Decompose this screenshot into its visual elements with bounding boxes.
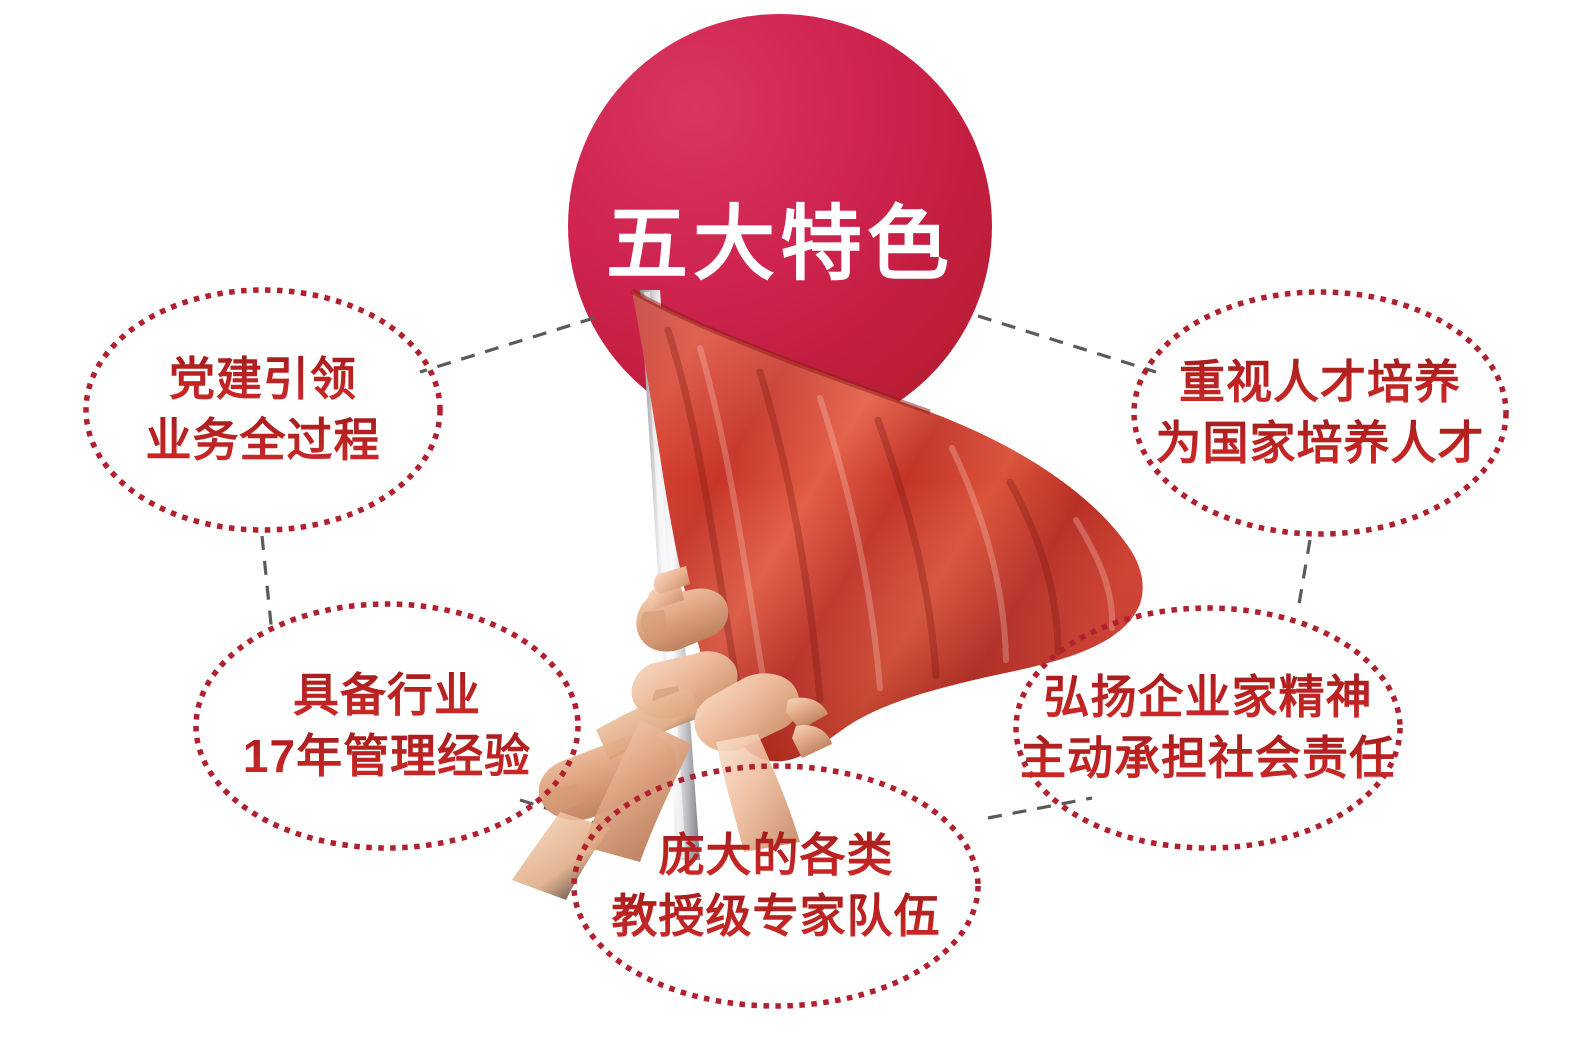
infographic-canvas: 五大特色 bbox=[0, 0, 1594, 1045]
bubble-line-1: 庞大的各类 bbox=[659, 825, 894, 886]
connector-hub-to-top-left bbox=[420, 318, 594, 372]
feature-bubble-bottom-left[interactable]: 具备行业 17年管理经验 bbox=[192, 600, 582, 852]
center-hub-circle[interactable]: 五大特色 bbox=[568, 14, 992, 438]
bubble-line-1: 党建引领 bbox=[169, 349, 357, 410]
bubble-line-1: 弘扬企业家精神 bbox=[1044, 667, 1373, 728]
bubble-line-2: 17年管理经验 bbox=[243, 726, 531, 787]
hub-title: 五大特色 bbox=[606, 204, 954, 286]
feature-bubble-top-right[interactable]: 重视人才培养 为国家培养人才 bbox=[1130, 288, 1510, 538]
connector-top-right-to-bottom-right bbox=[1298, 540, 1310, 610]
bubble-line-1: 具备行业 bbox=[293, 665, 481, 726]
bubble-line-2: 主动承担社会责任 bbox=[1020, 728, 1396, 789]
feature-bubble-top-left[interactable]: 党建引领 业务全过程 bbox=[82, 286, 444, 534]
feature-bubble-bottom-center[interactable]: 庞大的各类 教授级专家队伍 bbox=[570, 762, 982, 1010]
bubble-line-1: 重视人才培养 bbox=[1179, 352, 1461, 413]
feature-bubble-bottom-right[interactable]: 弘扬企业家精神 主动承担社会责任 bbox=[1012, 604, 1404, 852]
bubble-line-2: 为国家培养人才 bbox=[1156, 413, 1485, 474]
bubble-line-2: 教授级专家队伍 bbox=[612, 886, 941, 947]
bubble-line-2: 业务全过程 bbox=[146, 410, 381, 471]
